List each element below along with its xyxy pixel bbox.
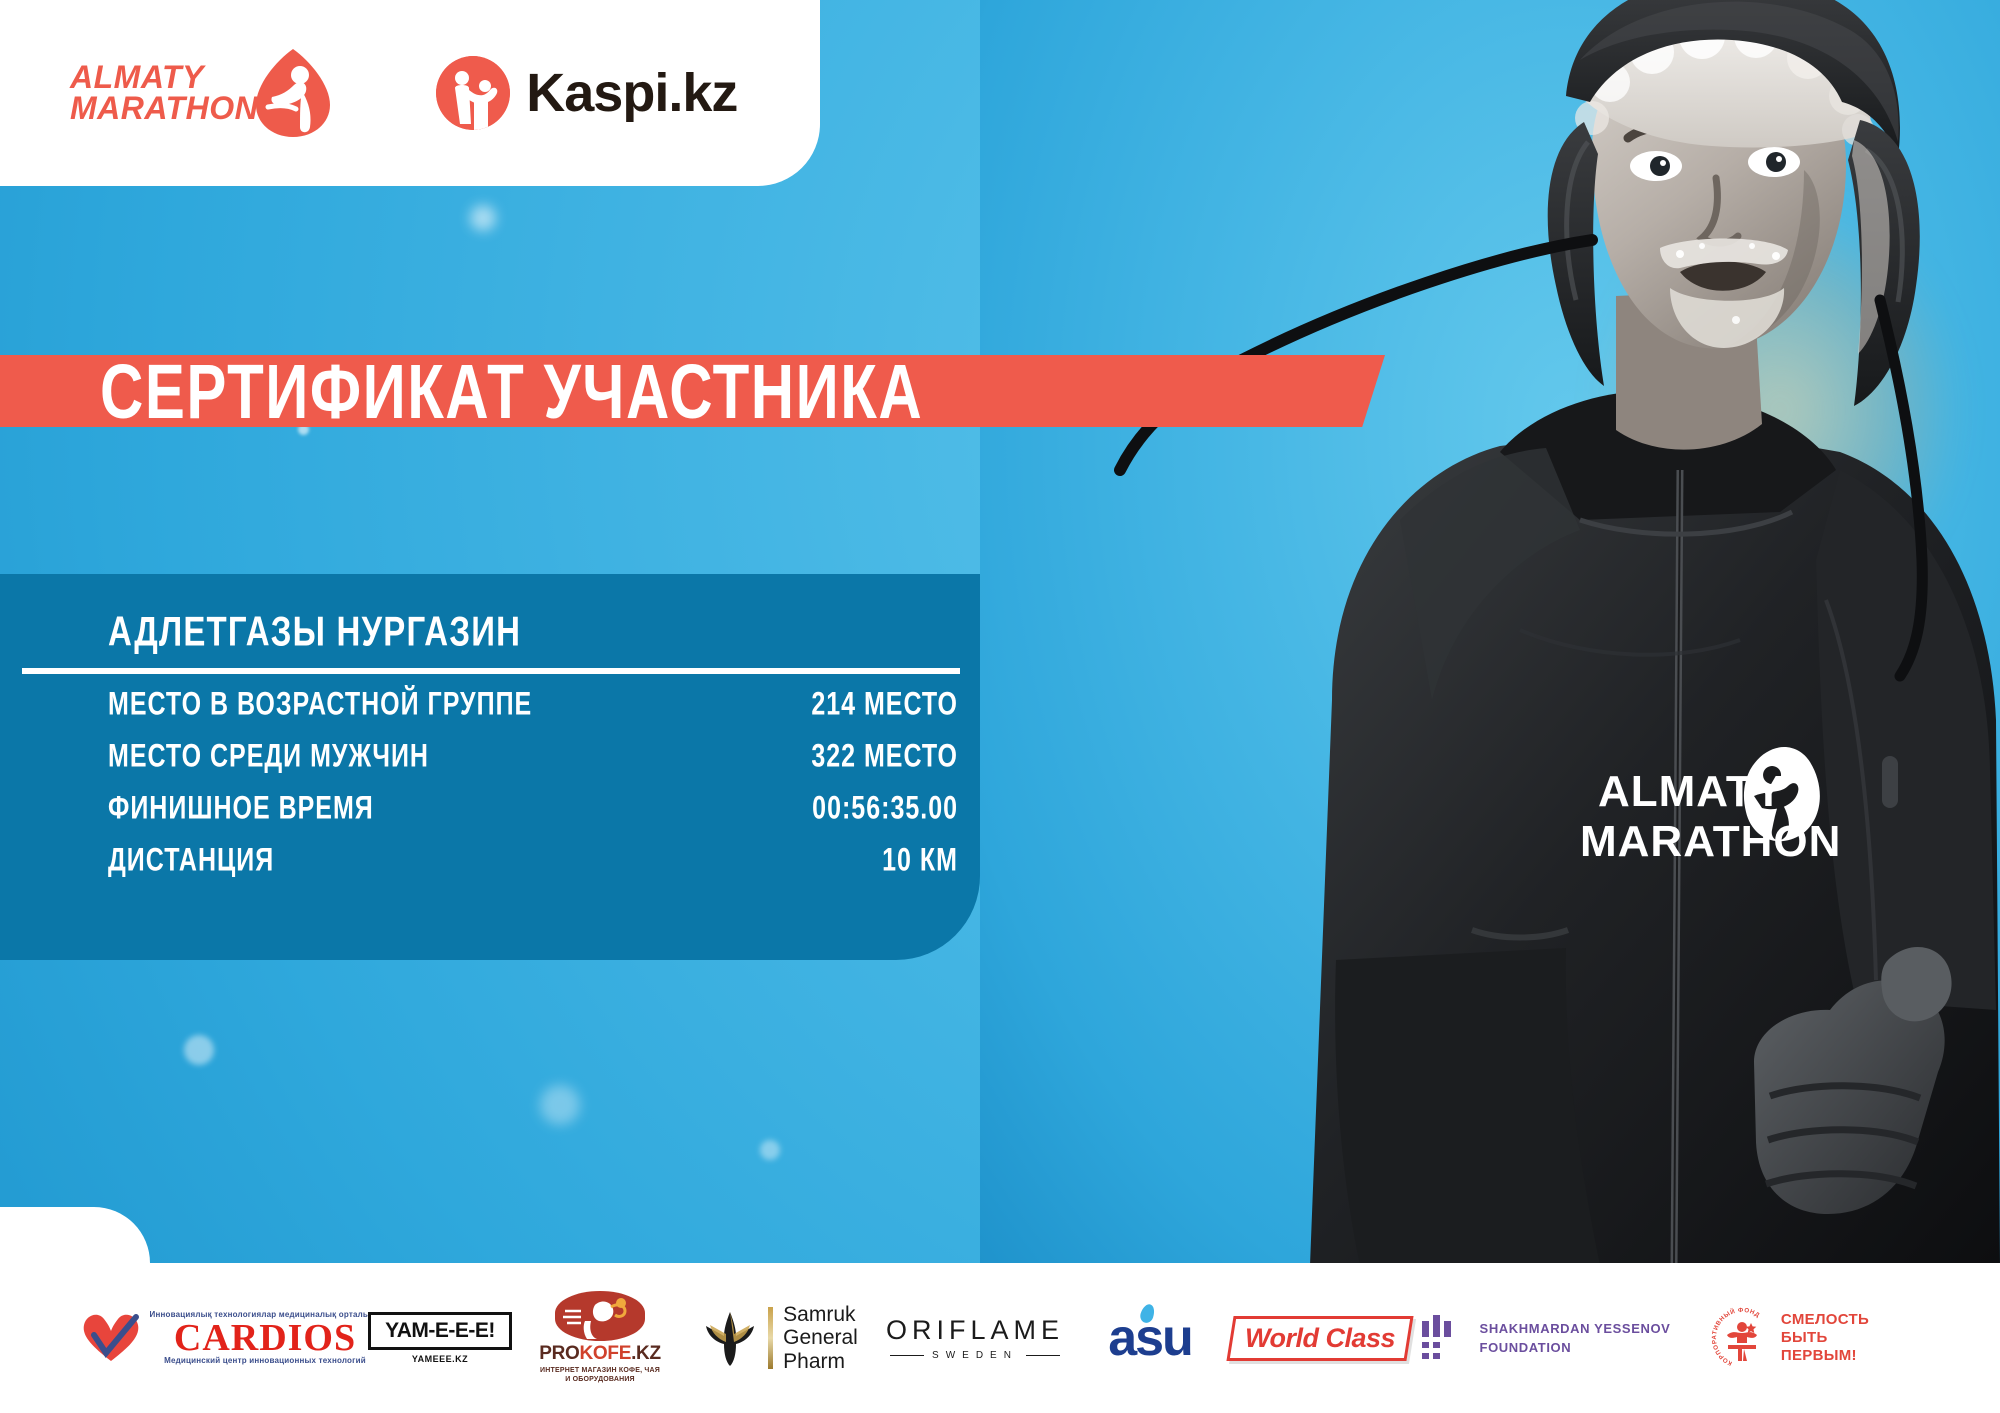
stat-row: ФИНИШНОЕ ВРЕМЯ 00:56:35.00 xyxy=(0,794,980,846)
certificate-canvas: ALMATY MARATHON xyxy=(0,0,2000,1413)
stat-value: 214 МЕСТО xyxy=(811,686,958,724)
snow-particle xyxy=(540,1085,580,1125)
worldclass-badge: World Class xyxy=(1226,1316,1413,1361)
stat-label: ФИНИШНОЕ ВРЕМЯ xyxy=(108,790,374,828)
sponsor-shakhmardan: SHAKHMARDAN YESSENOV FOUNDATION xyxy=(1415,1283,1675,1393)
yameee-url: YAMEEE.KZ xyxy=(412,1354,468,1364)
almaty-marathon-line2: MARATHON xyxy=(70,93,258,124)
header-logos: ALMATY MARATHON xyxy=(0,0,820,186)
kaspi-wordmark: Kaspi.kz xyxy=(526,62,737,124)
oriflame-subtitle: SWEDEN xyxy=(890,1350,1060,1361)
kaspi-people-icon xyxy=(436,56,510,130)
prokofe-subtitle: ИНТЕРНЕТ МАГАЗИН КОФЕ, ЧАЯ И ОБОРУДОВАНИ… xyxy=(540,1367,660,1385)
svg-text:ALMATY: ALMATY xyxy=(1598,767,1784,816)
shakhmardan-line1: SHAKHMARDAN YESSENOV xyxy=(1480,1319,1671,1339)
prokofe-kz: .KZ xyxy=(631,1343,661,1364)
prokofe-pro: PRO xyxy=(539,1343,579,1364)
cardios-wordmark: Инновациялық технологиялар медициналық о… xyxy=(150,1311,381,1365)
oriflame-rule-right xyxy=(1026,1355,1060,1356)
stat-row: МЕСТО В ВОЗРАСТНОЙ ГРУППЕ 214 МЕСТО xyxy=(0,690,980,742)
stats-list: МЕСТО В ВОЗРАСТНОЙ ГРУППЕ 214 МЕСТО МЕСТ… xyxy=(0,690,980,898)
sponsor-oriflame: ORIFLAME SWEDEN xyxy=(875,1283,1075,1393)
stat-label: ДИСТАНЦИЯ xyxy=(108,842,274,880)
samruk-line2: General xyxy=(783,1326,858,1350)
snow-particle xyxy=(470,205,496,231)
smelost-wordmark: СМЕЛОСТЬ БЫТЬ ПЕРВЫМ! xyxy=(1781,1311,1869,1364)
sponsor-prokofe: PROKOFE.KZ ИНТЕРНЕТ МАГАЗИН КОФЕ, ЧАЯ И … xyxy=(515,1283,685,1393)
yameee-name: YAM-E-E-E! xyxy=(368,1312,512,1350)
smelost-runner-icon: КОРПОРАТИВНЫЙ ФОНД xyxy=(1711,1307,1773,1369)
sponsor-cardios: Инновациялық технологиялар медициналық о… xyxy=(95,1283,365,1393)
oriflame-sweden: SWEDEN xyxy=(932,1350,1018,1361)
stat-value: 322 МЕСТО xyxy=(811,738,958,776)
smelost-line3: ПЕРВЫМ! xyxy=(1781,1347,1869,1365)
sponsor-yameee: YAM-E-E-E! YAMEEE.KZ xyxy=(365,1283,515,1393)
sponsor-asu: asu xyxy=(1075,1283,1225,1393)
sponsor-logos: Инновациялық технологиялар медициналық о… xyxy=(0,1263,2000,1413)
prokofe-barista-icon xyxy=(555,1291,645,1341)
worldclass-name: World Class xyxy=(1245,1323,1395,1354)
runner-figure-svg: ALMATY MARATHON xyxy=(980,0,2000,1265)
marathon-runner-icon xyxy=(252,47,334,139)
cardios-bottom-line: Медицинский центр инновационных технолог… xyxy=(150,1357,381,1365)
samruk-divider xyxy=(768,1307,773,1369)
stat-value: 00:56:35.00 xyxy=(812,790,958,828)
stat-value: 10 КМ xyxy=(882,842,958,880)
asu-wordmark: asu xyxy=(1108,1308,1192,1368)
sponsor-worldclass: World Class xyxy=(1225,1283,1415,1393)
samruk-wordmark: Samruk General Pharm xyxy=(783,1303,858,1374)
samruk-line1: Samruk xyxy=(783,1303,858,1327)
samruk-line3: Pharm xyxy=(783,1350,858,1374)
stat-row: ДИСТАНЦИЯ 10 КМ xyxy=(0,846,980,898)
shakhmardan-bars-icon xyxy=(1420,1315,1466,1361)
runner-photo: ALMATY MARATHON xyxy=(980,0,2000,1265)
prokofe-sub-line2: И ОБОРУДОВАНИЯ xyxy=(540,1376,660,1385)
svg-text:MARATHON: MARATHON xyxy=(1580,817,1841,866)
smelost-line2: БЫТЬ xyxy=(1781,1329,1869,1347)
kaspi-logo: Kaspi.kz xyxy=(436,56,737,130)
stat-label: МЕСТО СРЕДИ МУЖЧИН xyxy=(108,738,429,776)
prokofe-sub-line1: ИНТЕРНЕТ МАГАЗИН КОФЕ, ЧАЯ xyxy=(540,1367,660,1376)
snow-particle xyxy=(184,1035,214,1065)
shakhmardan-wordmark: SHAKHMARDAN YESSENOV FOUNDATION xyxy=(1480,1319,1671,1358)
prokofe-wordmark: PROKOFE.KZ xyxy=(539,1343,661,1365)
almaty-marathon-logo: ALMATY MARATHON xyxy=(70,47,334,139)
name-divider xyxy=(22,668,960,674)
sponsor-smelost: КОРПОРАТИВНЫЙ ФОНД СМЕЛОСТЬ БЫТЬ ПЕРВЫМ! xyxy=(1675,1283,1905,1393)
stat-label: МЕСТО В ВОЗРАСТНОЙ ГРУППЕ xyxy=(108,686,532,724)
prokofe-kofe: KOFE xyxy=(579,1343,631,1364)
oriflame-name: ORIFLAME xyxy=(886,1315,1064,1346)
almaty-marathon-line1: ALMATY xyxy=(70,62,258,93)
samruk-bird-icon xyxy=(702,1308,758,1368)
oriflame-rule-left xyxy=(890,1355,924,1356)
cardios-name: CARDIOS xyxy=(150,1319,381,1357)
shakhmardan-line2: FOUNDATION xyxy=(1480,1338,1671,1358)
snow-particle xyxy=(760,1140,780,1160)
smelost-line1: СМЕЛОСТЬ xyxy=(1781,1311,1869,1329)
stat-row: МЕСТО СРЕДИ МУЖЧИН 322 МЕСТО xyxy=(0,742,980,794)
almaty-marathon-wordmark: ALMATY MARATHON xyxy=(70,62,258,123)
cardios-heart-icon xyxy=(80,1311,142,1365)
certificate-title: СЕРТИФИКАТ УЧАСТНИКА xyxy=(100,345,923,437)
sponsor-samruk: Samruk General Pharm xyxy=(685,1283,875,1393)
participant-name: АДЛЕТГАЗЫ НУРГАЗИН xyxy=(108,608,521,656)
